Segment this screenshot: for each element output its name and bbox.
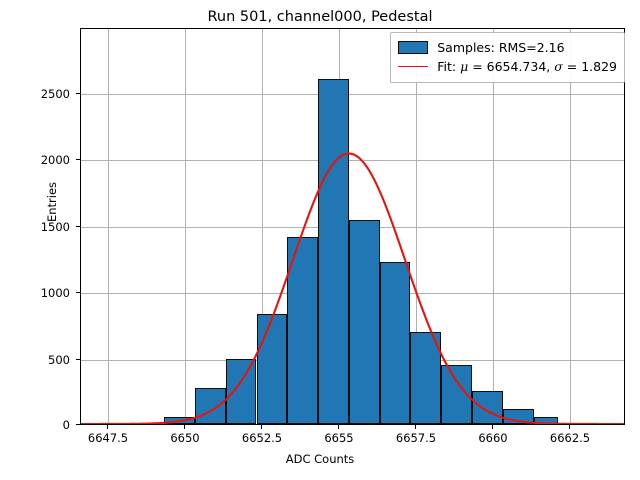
legend-entry-samples: Samples: RMS=2.16 [398, 38, 617, 57]
y-tick-mark [76, 226, 80, 227]
y-tick-label: 0 [4, 418, 70, 432]
y-tick-mark [76, 159, 80, 160]
x-tick-label: 6662.5 [530, 431, 610, 445]
legend-label-samples: Samples: RMS=2.16 [437, 40, 564, 55]
plot-area [80, 28, 625, 425]
figure-canvas: Run 501, channel000, Pedestal [0, 0, 640, 480]
x-tick-label: 6652.5 [222, 431, 302, 445]
chart-title: Run 501, channel000, Pedestal [0, 9, 640, 25]
legend-line-icon [398, 66, 428, 67]
x-tick-label: 6660 [453, 431, 533, 445]
y-tick-label: 500 [4, 353, 70, 367]
x-tick-mark [261, 425, 262, 429]
gaussian-fit-curve [81, 29, 624, 424]
x-tick-mark [184, 425, 185, 429]
y-tick-mark [76, 424, 80, 425]
y-tick-mark [76, 292, 80, 293]
legend-label-fit: Fit: μ = 6654.734, σ = 1.829 [437, 59, 617, 74]
legend-fit-mu-symbol: μ [460, 59, 468, 74]
x-tick-mark [107, 425, 108, 429]
x-tick-label: 6650 [145, 431, 225, 445]
y-tick-mark [76, 93, 80, 94]
legend-fit-prefix: Fit: [437, 59, 460, 74]
legend-fit-sigma-value: = 1.829 [563, 59, 617, 74]
x-axis-label: ADC Counts [0, 452, 640, 466]
x-tick-mark [569, 425, 570, 429]
legend-fit-sigma-symbol: σ [554, 59, 563, 74]
y-tick-label: 1500 [4, 220, 70, 234]
legend-fit-mu-value: = 6654.734, [468, 59, 554, 74]
x-tick-label: 6657.5 [376, 431, 456, 445]
x-tick-mark [338, 425, 339, 429]
y-axis-label: Entries [45, 142, 59, 262]
y-tick-label: 2500 [4, 87, 70, 101]
y-tick-label: 2000 [4, 153, 70, 167]
legend-box: Samples: RMS=2.16 Fit: μ = 6654.734, σ =… [390, 32, 625, 83]
x-tick-label: 6647.5 [68, 431, 148, 445]
y-tick-mark [76, 359, 80, 360]
legend-entry-fit: Fit: μ = 6654.734, σ = 1.829 [398, 57, 617, 76]
x-tick-mark [415, 425, 416, 429]
x-tick-mark [492, 425, 493, 429]
legend-patch-icon [398, 41, 428, 54]
y-tick-label: 1000 [4, 286, 70, 300]
x-tick-label: 6655 [299, 431, 379, 445]
